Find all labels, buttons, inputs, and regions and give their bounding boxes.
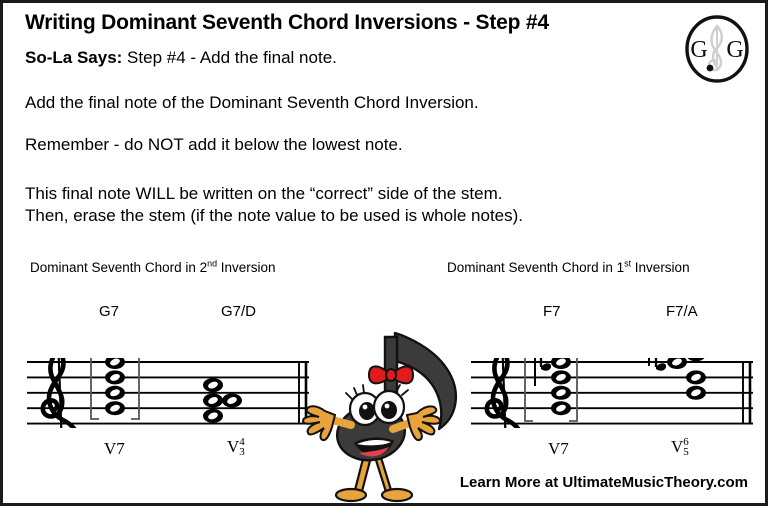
roman-numeral-left-inversion: V43 bbox=[227, 437, 245, 458]
whole-note bbox=[686, 386, 706, 400]
so-la-eighth-note-character bbox=[299, 325, 479, 505]
figured-bass-left: 43 bbox=[239, 437, 245, 457]
roman-numeral-right-root: V7 bbox=[548, 439, 569, 459]
left-music-staff bbox=[27, 358, 309, 428]
whole-note-added bbox=[686, 358, 706, 361]
chord-symbol-g7-over-d: G7/D bbox=[221, 303, 256, 320]
whole-note bbox=[551, 370, 571, 384]
left-example-caption: Dominant Seventh Chord in 2nd Inversion bbox=[30, 260, 276, 275]
right-example-caption: Dominant Seventh Chord in 1st Inversion bbox=[447, 260, 690, 275]
chord-symbol-g7: G7 bbox=[99, 303, 119, 320]
svg-text:G: G bbox=[690, 37, 707, 63]
instruction-paragraph-4: Then, erase the stem (if the note value … bbox=[25, 206, 523, 226]
whole-note bbox=[203, 409, 223, 423]
left-hand bbox=[303, 406, 335, 440]
whole-note bbox=[105, 386, 125, 400]
instruction-paragraph-2: Remember - do NOT add it below the lowes… bbox=[25, 135, 403, 155]
right-caption-ordinal: st bbox=[624, 259, 631, 269]
right-music-staff bbox=[471, 358, 753, 428]
bow-icon bbox=[369, 366, 413, 383]
roman-numeral-left-root: V7 bbox=[104, 439, 125, 459]
instruction-paragraph-1: Add the final note of the Dominant Seven… bbox=[25, 93, 479, 113]
left-chord-second-inversion bbox=[203, 378, 242, 423]
svg-text:G: G bbox=[726, 37, 743, 63]
whole-note bbox=[105, 358, 125, 369]
whole-note bbox=[551, 358, 571, 369]
whole-note bbox=[686, 370, 706, 384]
left-caption-post: Inversion bbox=[217, 260, 276, 275]
figured-bass-right: 65 bbox=[683, 437, 689, 457]
worksheet-page: Writing Dominant Seventh Chord Inversion… bbox=[0, 0, 768, 506]
roman-right-letter: V bbox=[671, 437, 683, 456]
whole-note bbox=[105, 370, 125, 384]
figured-bass-right-bottom: 5 bbox=[683, 447, 689, 457]
so-la-says-text: Step #4 - Add the final note. bbox=[127, 48, 337, 67]
whole-note bbox=[203, 378, 223, 392]
footer-link[interactable]: Learn More at UltimateMusicTheory.com bbox=[460, 474, 748, 491]
roman-left-letter: V bbox=[227, 437, 239, 456]
chord-symbol-f7-over-a: F7/A bbox=[666, 303, 698, 320]
right-caption-post: Inversion bbox=[631, 260, 690, 275]
left-caption-pre: Dominant Seventh Chord in 2 bbox=[30, 260, 207, 275]
right-caption-pre: Dominant Seventh Chord in 1 bbox=[447, 260, 624, 275]
whole-note bbox=[551, 401, 571, 415]
figured-bass-left-bottom: 3 bbox=[239, 447, 245, 457]
ultimate-music-theory-gsg-logo: G G bbox=[683, 13, 751, 85]
right-hand bbox=[407, 406, 440, 440]
left-caption-ordinal: nd bbox=[207, 259, 217, 269]
whole-note bbox=[551, 386, 571, 400]
right-chord-root-position bbox=[551, 358, 571, 415]
roman-numeral-right-inversion: V65 bbox=[671, 437, 689, 458]
whole-note bbox=[667, 358, 687, 369]
chord-symbol-f7: F7 bbox=[543, 303, 561, 320]
whole-note bbox=[203, 394, 223, 408]
so-la-says-label: So-La Says: bbox=[25, 48, 122, 67]
whole-note-added bbox=[222, 394, 242, 408]
instruction-paragraph-3: This final note WILL be written on the “… bbox=[25, 184, 502, 204]
left-chord-root-position bbox=[105, 358, 125, 415]
flat-accidental-icon bbox=[541, 358, 551, 371]
page-title: Writing Dominant Seventh Chord Inversion… bbox=[25, 11, 549, 35]
so-la-says-line: So-La Says: Step #4 - Add the final note… bbox=[25, 48, 337, 68]
flat-accidental-icon bbox=[656, 358, 666, 371]
whole-note bbox=[105, 401, 125, 415]
eyes bbox=[350, 391, 404, 425]
